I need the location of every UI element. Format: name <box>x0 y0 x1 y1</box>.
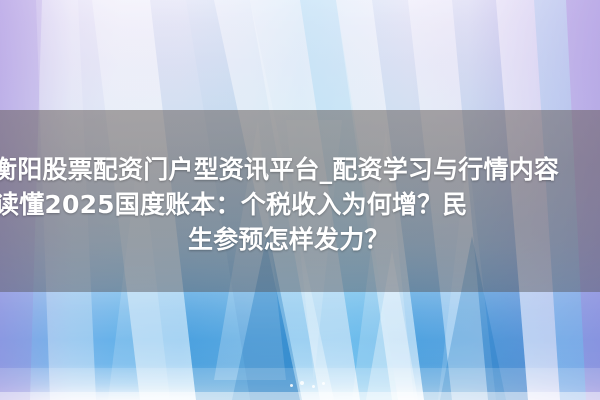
banner-canvas: 衡阳股票配资门户型资讯平台_配资学习与行情内容 读懂2025国度账本：个税收入为… <box>0 0 600 400</box>
sparkle-dot-3 <box>312 385 315 388</box>
headline-line-1: 衡阳股票配资门户型资讯平台_配资学习与行情内容 <box>0 152 600 187</box>
sparkle-decoration <box>288 380 334 392</box>
headline-line-2: 读懂2025国度账本：个税收入为何增？民 <box>0 187 600 222</box>
sparkle-dot-4 <box>322 382 325 385</box>
sparkle-dot-1 <box>290 384 293 387</box>
headline-line-3: 生参预怎样发力？ <box>188 222 600 257</box>
sparkle-dot-2 <box>300 381 304 385</box>
banner-headline: 衡阳股票配资门户型资讯平台_配资学习与行情内容 读懂2025国度账本：个税收入为… <box>0 152 600 257</box>
